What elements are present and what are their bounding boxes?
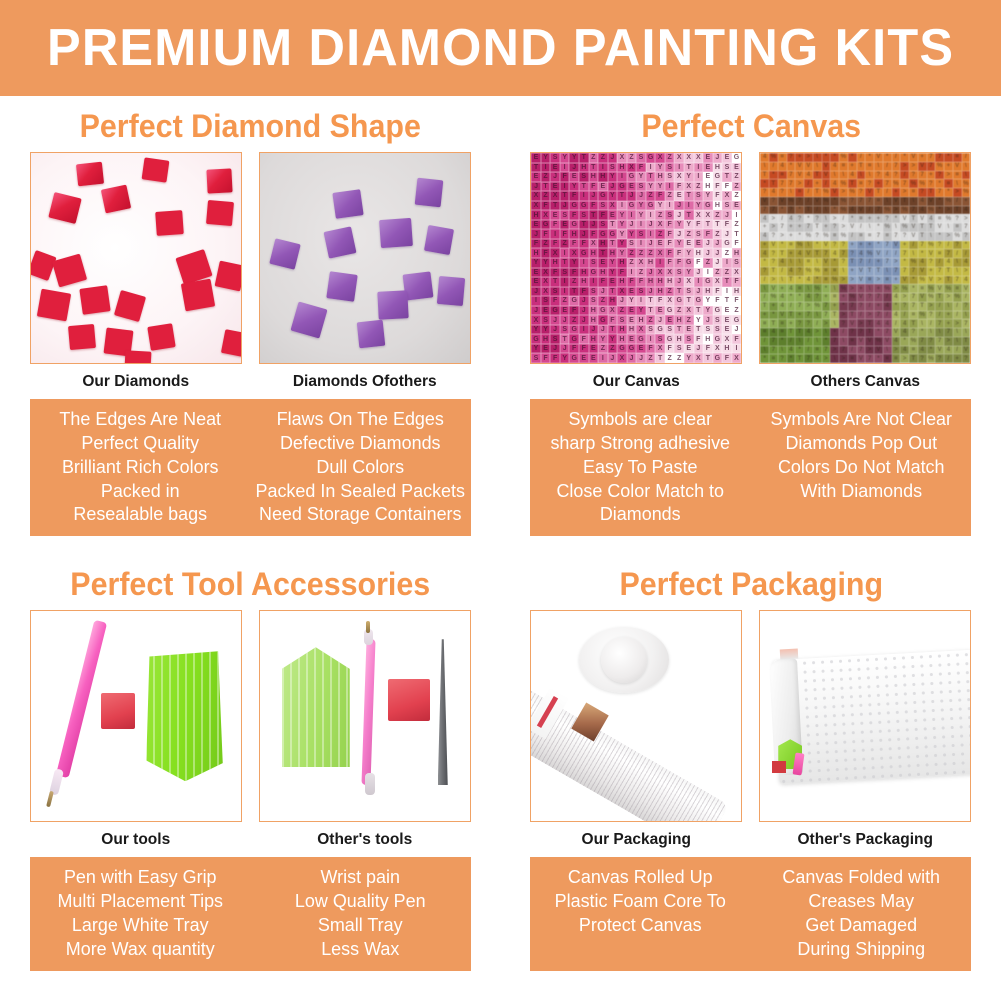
text-line: Packed in [35, 479, 245, 503]
tweezers-icon [438, 639, 448, 785]
caption-other-canvas: Others Canvas [759, 364, 971, 399]
photo-pair-tools: Our tools Other's tools [0, 610, 501, 857]
green-tray-icon [145, 651, 223, 781]
text-line: Get Damaged [756, 913, 966, 937]
symbol-grid-multicolor: 4%¤?+>\**%*/*V*/*V+77*¤/\/4*VV\V4¤+T¤\/7… [760, 153, 970, 363]
cell-our-diamonds: Our Diamonds [30, 152, 242, 399]
text-line: Multi Placement Tips [35, 889, 245, 913]
text-line: Dull Colors [255, 455, 465, 479]
section-diamond-shape: Perfect Diamond Shape [0, 96, 501, 536]
text-line: The Edges Are Neat [35, 407, 245, 431]
caption-our-tools: Our tools [30, 822, 242, 857]
tray-ridges [282, 647, 350, 767]
textcol-ours-canvas: Symbols are clear sharp Strong adhesive … [534, 407, 748, 526]
text-line: Close Color Match to [535, 479, 745, 503]
caption-other-packaging: Other's Packaging [759, 822, 971, 857]
wax-square-icon [101, 693, 135, 729]
wax-square-icon [388, 679, 430, 721]
caption-our-diamonds: Our Diamonds [30, 364, 242, 399]
comparison-row-1: Perfect Diamond Shape [0, 96, 1001, 536]
other-packaging-photo [759, 610, 971, 822]
textcol-others-tools: Wrist pain Low Quality Pen Small Tray Le… [254, 865, 468, 960]
others-canvas-photo: 4%¤?+>\**%*/*V*/*V+77*¤/\/4*VV\V4¤+T¤\/7… [759, 152, 971, 364]
cell-other-canvas: 4%¤?+>\**%*/*V*/*V+77*¤/\/4*VV\V4¤+T¤\/7… [759, 152, 971, 399]
text-line: Plastic Foam Core To [535, 889, 745, 913]
photo-pair-canvas: EYSYYTZZJXZSGXZXXXEJEGTIEIJHTISHXFIYSITI… [501, 152, 1001, 399]
red-diamonds-photo [30, 152, 242, 364]
text-line: Defective Diamonds [255, 431, 465, 455]
pen-grip-icon [365, 773, 375, 795]
text-line: Symbols Are Not Clear [756, 407, 966, 431]
caption-our-canvas: Our Canvas [530, 364, 742, 399]
textblock-tools: Pen with Easy Grip Multi Placement Tips … [30, 857, 471, 970]
text-line: Low Quality Pen [255, 889, 465, 913]
text-line: During Shipping [756, 937, 966, 961]
cell-other-tools: Other's tools [259, 610, 471, 857]
text-line: Diamonds Pop Out [756, 431, 966, 455]
text-line: Canvas Rolled Up [535, 865, 745, 889]
pen-needle-icon [366, 621, 370, 633]
text-line: Perfect Quality [35, 431, 245, 455]
tray-ridges [145, 651, 223, 781]
section-title-diamond-shape: Perfect Diamond Shape [13, 96, 488, 152]
text-line: Pen with Easy Grip [35, 865, 245, 889]
textblock-diamond-shape: The Edges Are Neat Perfect Quality Brill… [30, 399, 471, 536]
photo-pair-diamond-shape: Our Diamonds Dia [0, 152, 501, 399]
cell-our-canvas: EYSYYTZZJXZSGXZXXXEJEGTIEIJHTISHXFIYSITI… [530, 152, 742, 399]
text-line: Creases May [756, 889, 966, 913]
row-spacer [0, 536, 1001, 554]
section-packaging: Perfect Packaging Our Packaging [501, 554, 1001, 970]
our-canvas-photo: EYSYYTZZJXZSGXZXXXEJEGTIEIJHTISHXFIYSITI… [530, 152, 742, 364]
pink-pen-icon [56, 620, 107, 778]
text-line: Diamonds [535, 502, 745, 526]
section-title-tool-accessories: Perfect Tool Accessories [13, 554, 488, 610]
comparison-row-2: Perfect Tool Accessories Our tools [0, 554, 1001, 970]
textcol-ours-tools: Pen with Easy Grip Multi Placement Tips … [33, 865, 247, 960]
caption-other-tools: Other's tools [259, 822, 471, 857]
text-line: Wrist pain [255, 865, 465, 889]
textblock-packaging: Canvas Rolled Up Plastic Foam Core To Pr… [530, 857, 971, 970]
caption-our-packaging: Our Packaging [530, 822, 742, 857]
textcol-ours-diamond-shape: The Edges Are Neat Perfect Quality Brill… [33, 407, 247, 526]
section-title-packaging: Perfect Packaging [513, 554, 988, 610]
photo-pair-packaging: Our Packaging Other's Packaging [501, 610, 1001, 857]
our-packaging-photo [530, 610, 742, 822]
page-title: PREMIUM DIAMOND PAINTING KITS [47, 22, 954, 74]
text-line: Flaws On The Edges [255, 407, 465, 431]
text-line: Brilliant Rich Colors [35, 455, 245, 479]
text-line: Easy To Paste [535, 455, 745, 479]
textcol-others-diamond-shape: Flaws On The Edges Defective Diamonds Du… [254, 407, 468, 526]
pink-pen-icon [361, 639, 375, 785]
text-line: With Diamonds [756, 479, 966, 503]
our-tools-photo [30, 610, 242, 822]
text-line: Protect Canvas [535, 913, 745, 937]
textcol-others-canvas: Symbols Are Not Clear Diamonds Pop Out C… [754, 407, 968, 526]
other-tools-photo [259, 610, 471, 822]
text-line: Canvas Folded with [756, 865, 966, 889]
cell-our-tools: Our tools [30, 610, 242, 857]
text-line: Need Storage Containers [255, 502, 465, 526]
symbol-grid-pink: EYSYYTZZJXZSGXZXXXEJEGTIEIJHTISHXFIYSITI… [531, 153, 741, 363]
text-line: Packed In Sealed Packets [255, 479, 465, 503]
header-banner: PREMIUM DIAMOND PAINTING KITS [0, 0, 1001, 96]
text-line: Resealable bags [35, 502, 245, 526]
section-title-canvas: Perfect Canvas [513, 96, 988, 152]
textblock-canvas: Symbols are clear sharp Strong adhesive … [530, 399, 971, 536]
cell-other-packaging: Other's Packaging [759, 610, 971, 857]
mailer-contents-red-icon [772, 761, 786, 773]
text-line: sharp Strong adhesive [535, 431, 745, 455]
text-line: Symbols are clear [535, 407, 745, 431]
textcol-others-packaging: Canvas Folded with Creases May Get Damag… [754, 865, 968, 960]
purple-diamonds-photo [259, 152, 471, 364]
text-line: Colors Do Not Match [756, 455, 966, 479]
section-tool-accessories: Perfect Tool Accessories Our tools [0, 554, 501, 970]
text-line: Large White Tray [35, 913, 245, 937]
text-line: Small Tray [255, 913, 465, 937]
cell-our-packaging: Our Packaging [530, 610, 742, 857]
textcol-ours-packaging: Canvas Rolled Up Plastic Foam Core To Pr… [534, 865, 748, 960]
caption-other-diamonds: Diamonds Ofothers [259, 364, 471, 399]
cell-other-diamonds: Diamonds Ofothers [259, 152, 471, 399]
pen-needle-icon [46, 791, 54, 807]
section-canvas: Perfect Canvas EYSYYTZZJXZSGXZXXXEJEGTIE… [501, 96, 1001, 536]
text-line: More Wax quantity [35, 937, 245, 961]
mailer-top-edge-icon [780, 649, 798, 660]
green-tray-icon [282, 647, 350, 767]
text-line: Less Wax [255, 937, 465, 961]
